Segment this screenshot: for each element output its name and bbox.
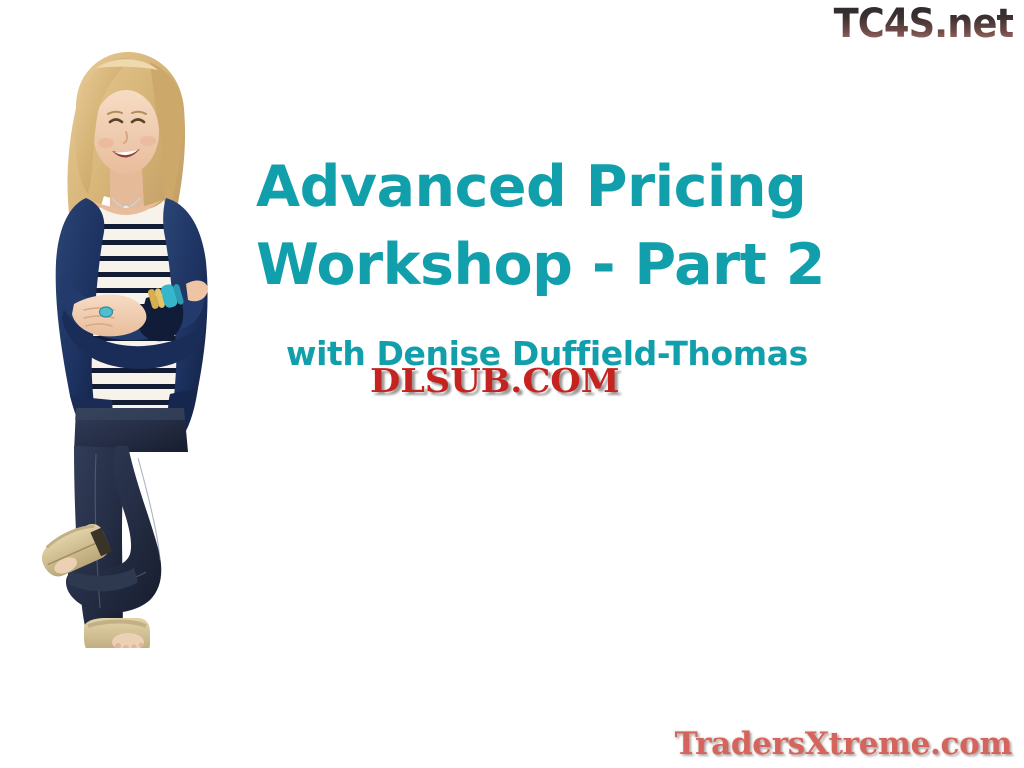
watermark-tc4s: TC4S.net xyxy=(833,2,1013,46)
watermark-tradersxtreme: TradersXtreme.com xyxy=(675,726,1012,762)
watermark-dlsub: DLSUB.COM xyxy=(370,362,619,400)
page-title: Advanced Pricing Workshop - Part 2 xyxy=(256,148,896,304)
presenter-photo xyxy=(18,48,268,648)
slide-canvas: Advanced Pricing Workshop - Part 2 with … xyxy=(0,0,1024,768)
